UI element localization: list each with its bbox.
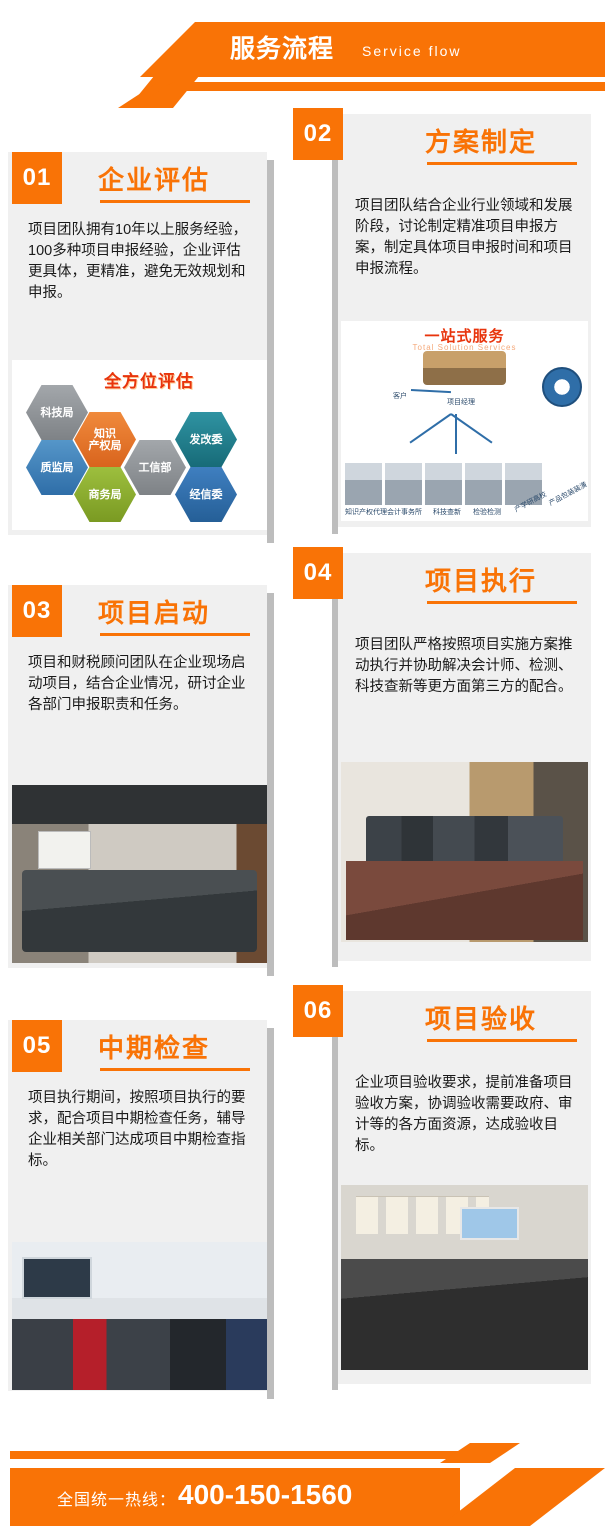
service-tile — [385, 463, 422, 505]
step-number-badge: 03 — [12, 585, 62, 637]
step-number-badge: 01 — [12, 152, 62, 204]
diagram-center-photo — [423, 351, 507, 385]
step-card-06[interactable]: 06 项目验收 企业项目验收要求，提前准备项目验收方案，协调验收需要政府、审计等… — [293, 985, 598, 1390]
diagram-arrow — [409, 413, 451, 443]
card-description: 项目和财税顾问团队在企业现场启动项目，结合企业情况，研讨企业各部门申报职责和任务… — [28, 653, 250, 716]
step-number-badge: 02 — [293, 108, 343, 160]
step-card-05[interactable]: 05 中期检查 项目执行期间，按照项目执行的要求，配合项目中期检查任务，辅导企业… — [8, 1020, 274, 1398]
footer-accent-line — [10, 1451, 462, 1459]
footer-banner-wedge — [440, 1468, 605, 1526]
card-shadow — [267, 1028, 274, 1399]
step-number-badge: 05 — [12, 1020, 62, 1072]
service-label-1: 会计事务所 — [387, 507, 422, 517]
service-flow-poster: 服务流程 Service flow 01 企业评估 项目团队拥有10年以上服务经… — [0, 0, 605, 1538]
card-title: 中期检查 — [98, 1028, 210, 1065]
step-card-02[interactable]: 02 方案制定 项目团队结合企业行业领域和发展阶段，讨论制定精准项目申报方案，制… — [293, 108, 598, 533]
team-working-laptops-photo — [341, 762, 588, 942]
step-card-04[interactable]: 04 项目执行 项目团队严格按照项目实施方案推动执行并协助解决会计师、检测、科技… — [293, 547, 598, 967]
hex-node-gxb: 工信部 — [124, 440, 186, 495]
title-underline — [100, 200, 250, 203]
card-shadow — [332, 160, 338, 534]
title-underline — [427, 1039, 577, 1042]
conference-room-kickoff-photo — [12, 785, 267, 963]
certification-seal-icon — [542, 367, 582, 407]
page-title: 服务流程 — [230, 27, 334, 71]
service-label-0: 知识产权代理 — [345, 507, 387, 517]
card-title: 方案制定 — [425, 122, 537, 159]
step-number-badge: 06 — [293, 985, 343, 1037]
service-label-5: 产品包装装潢 — [547, 480, 588, 509]
card-shadow — [332, 1037, 338, 1390]
card-description: 项目团队拥有10年以上服务经验，100多种项目申报经验，企业评估更具体，更精准，… — [28, 220, 250, 304]
card-shadow — [267, 160, 274, 543]
title-underline — [100, 633, 250, 636]
card-title: 企业评估 — [98, 160, 210, 197]
hotline-label: 全国统一热线： — [57, 1486, 176, 1510]
card-title: 项目启动 — [98, 593, 210, 630]
card-description: 项目团队严格按照项目实施方案推动执行并协助解决会计师、检测、科技查新等更方面第三… — [355, 635, 581, 698]
one-stop-service-diagram: 一站式服务 Total Solution Services 客户 项目经理 知识… — [341, 321, 588, 521]
diagram-title: 全方位评估 — [104, 367, 194, 392]
acceptance-meeting-photo — [341, 1185, 588, 1370]
card-description: 项目团队结合企业行业领域和发展阶段，讨论制定精准项目申报方案，制定具体项目申报时… — [355, 196, 577, 280]
card-description: 企业项目验收要求，提前准备项目验收方案，协调验收需要政府、审计等的各方面资源，达… — [355, 1073, 577, 1157]
service-label-2: 科技查新 — [433, 507, 461, 517]
diagram-arrow — [411, 389, 451, 393]
title-underline — [427, 601, 577, 604]
card-title: 项目验收 — [425, 999, 537, 1036]
step-card-03[interactable]: 03 项目启动 项目和财税顾问团队在企业现场启动项目，结合企业情况，研讨企业各部… — [8, 585, 274, 975]
page-subtitle: Service flow — [362, 36, 461, 66]
showroom-visit-photo — [12, 1242, 267, 1390]
card-shadow — [332, 599, 338, 967]
presentation-screen — [460, 1207, 519, 1240]
card-shadow — [267, 593, 274, 976]
diagram-arrow — [455, 414, 457, 454]
card-title: 项目执行 — [425, 561, 537, 598]
service-tile — [465, 463, 502, 505]
hex-node-fgw: 发改委 — [175, 412, 237, 467]
hex-node-jxw: 经信委 — [175, 467, 237, 522]
step-number-badge: 04 — [293, 547, 343, 599]
service-tile — [425, 463, 462, 505]
header-accent-line — [152, 82, 605, 91]
page-footer: 全国统一热线： 400-150-1560 — [0, 1413, 605, 1538]
service-tile — [345, 463, 382, 505]
diagram-client-label: 客户 — [393, 391, 407, 401]
page-header: 服务流程 Service flow — [0, 0, 605, 108]
step-card-01[interactable]: 01 企业评估 项目团队拥有10年以上服务经验，100多种项目申报经验，企业评估… — [8, 152, 274, 542]
service-label-3: 检验检测 — [473, 507, 501, 517]
diagram-manager-label: 项目经理 — [447, 397, 475, 407]
card-description: 项目执行期间，按照项目执行的要求，配合项目中期检查任务，辅导企业相关部门达成项目… — [28, 1088, 250, 1172]
hotline-phone[interactable]: 400-150-1560 — [178, 1479, 352, 1511]
title-underline — [427, 162, 577, 165]
title-underline — [100, 1068, 250, 1071]
all-round-evaluation-diagram: 全方位评估 科技局 知识产权局 质监局 商务局 工信部 发改委 经信委 — [12, 360, 267, 530]
